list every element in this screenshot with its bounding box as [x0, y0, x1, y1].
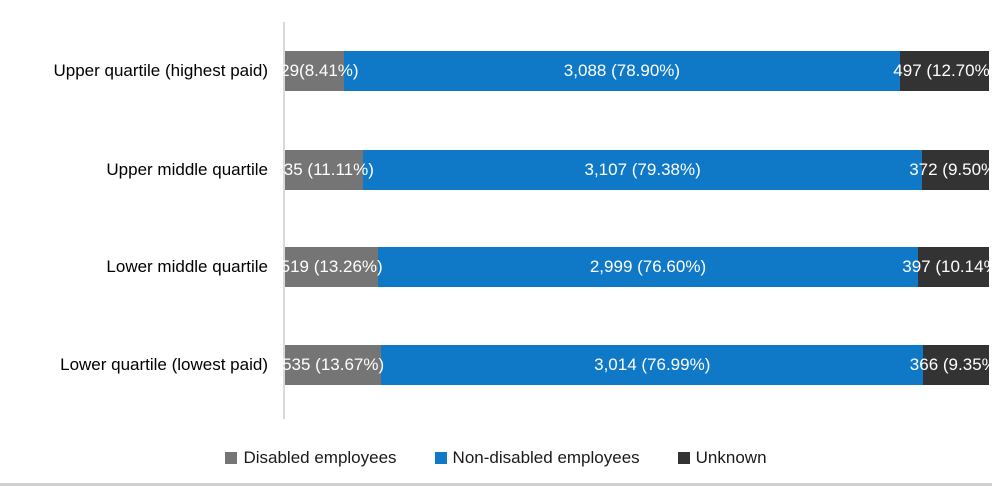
stacked-bar: 535 (13.67%) 3,014 (76.99%) 366 (9.35%): [285, 345, 989, 385]
category-label: Upper middle quartile: [0, 150, 268, 190]
segment-disabled-employees[interactable]: [285, 247, 378, 287]
segment-unknown[interactable]: [922, 150, 989, 190]
square-marker-icon: [678, 452, 690, 464]
segment-non-disabled-employees[interactable]: [363, 150, 922, 190]
category-label: Lower quartile (lowest paid): [0, 345, 268, 385]
stacked-bar: 435 (11.11%) 3,107 (79.38%) 372 (9.50%): [285, 150, 989, 190]
stacked-bar: 329(8.41%) 3,088 (78.90%) 497 (12.70%): [285, 51, 989, 91]
legend-label: Non-disabled employees: [453, 448, 640, 468]
segment-non-disabled-employees[interactable]: [381, 345, 923, 385]
category-label: Upper quartile (highest paid): [0, 51, 268, 91]
chart-row: Lower quartile (lowest paid) 535 (13.67%…: [0, 345, 992, 385]
chart-row: Upper quartile (highest paid) 329(8.41%)…: [0, 51, 992, 91]
legend-label: Unknown: [696, 448, 767, 468]
segment-non-disabled-employees[interactable]: [344, 51, 899, 91]
chart-legend: Disabled employees Non-disabled employee…: [0, 441, 992, 475]
segment-disabled-employees[interactable]: [285, 150, 363, 190]
segment-non-disabled-employees[interactable]: [378, 247, 917, 287]
segment-unknown[interactable]: [923, 345, 989, 385]
legend-label: Disabled employees: [243, 448, 396, 468]
segment-disabled-employees[interactable]: [285, 345, 381, 385]
category-label: Lower middle quartile: [0, 247, 268, 287]
legend-item-unknown[interactable]: Unknown: [678, 448, 767, 468]
square-marker-icon: [435, 452, 447, 464]
legend-item-disabled-employees[interactable]: Disabled employees: [225, 448, 396, 468]
segment-unknown[interactable]: [900, 51, 989, 91]
plot-area: Upper quartile (highest paid) 329(8.41%)…: [0, 0, 992, 432]
legend-item-non-disabled-employees[interactable]: Non-disabled employees: [435, 448, 640, 468]
square-marker-icon: [225, 452, 237, 464]
chart-row: Lower middle quartile 519 (13.26%) 2,999…: [0, 247, 992, 287]
segment-unknown[interactable]: [918, 247, 989, 287]
chart-row: Upper middle quartile 435 (11.11%) 3,107…: [0, 150, 992, 190]
stacked-bar-chart: Upper quartile (highest paid) 329(8.41%)…: [0, 0, 992, 486]
stacked-bar: 519 (13.26%) 2,999 (76.60%) 397 (10.14%): [285, 247, 989, 287]
segment-disabled-employees[interactable]: [285, 51, 344, 91]
